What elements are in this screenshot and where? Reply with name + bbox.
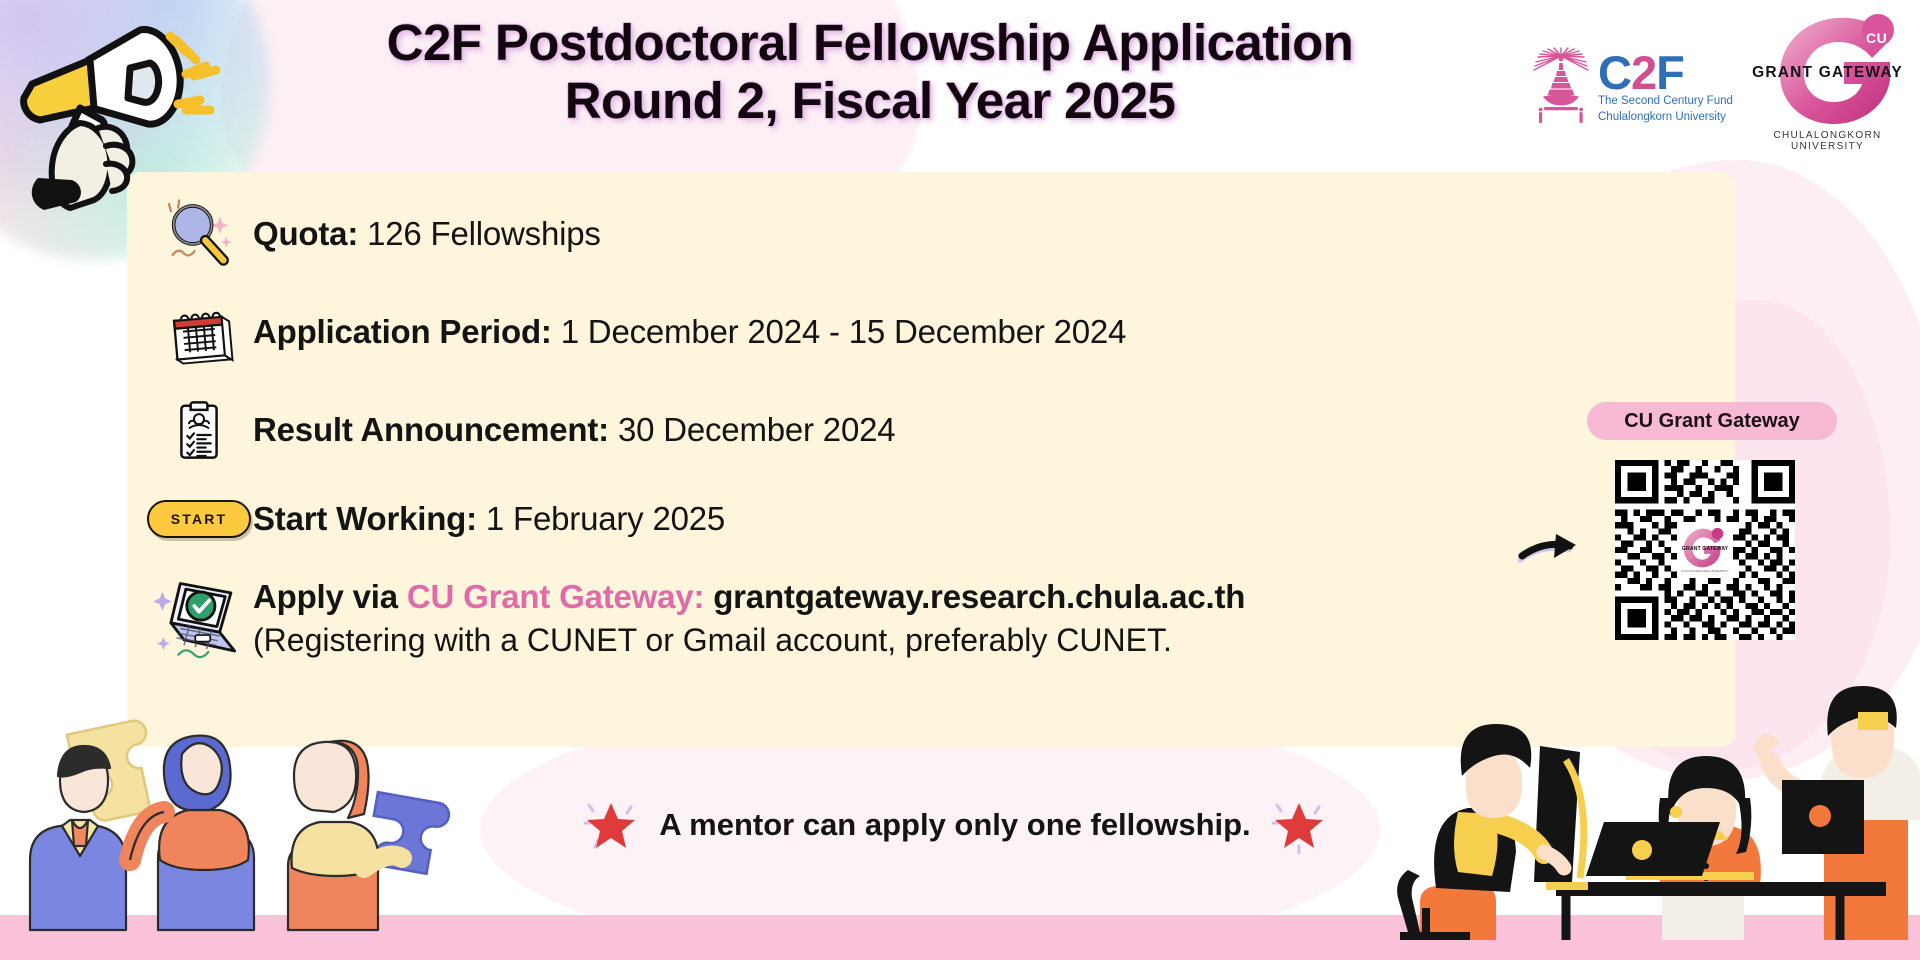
title-line-2: Round 2, Fiscal Year 2025 [230,72,1510,130]
row-apply-via-note: (Registering with a CUNET or Gmail accou… [253,622,1245,659]
row-apply-via-text: Apply via CU Grant Gateway: grantgateway… [253,566,1245,659]
row-result-announcement: Result Announcement: 30 December 2024 [145,390,895,470]
poster-title: C2F Postdoctoral Fellowship Application … [230,14,1510,129]
svg-text:GRANT GATEWAY: GRANT GATEWAY [1682,546,1729,552]
chulalongkorn-pagoda-emblem [1530,46,1592,130]
svg-text:CHULALONGKORN UNIVERSITY: CHULALONGKORN UNIVERSITY [1681,569,1728,573]
row-application-period-label: Application Period: [253,313,552,350]
grant-gateway-logo: CU GRANT GATEWAY CHULALONGKORN UNIVERSIT… [1740,14,1915,154]
row-apply-via-url[interactable]: grantgateway.research.chula.ac.th [713,578,1245,615]
c2f-letter-c: C [1598,46,1631,99]
row-quota-value: 126 Fellowships [367,215,601,252]
row-start-working-text: Start Working: 1 February 2025 [253,500,725,538]
row-quota-label: Quota: [253,215,358,252]
row-start-working-value: 1 February 2025 [486,500,725,537]
row-start-working-label: Start Working: [253,500,477,537]
clipboard-checklist-icon [145,394,253,466]
footer-note: A mentor can apply only one fellowship. [540,795,1370,855]
row-result-announcement-value: 30 December 2024 [618,411,895,448]
c2f-subtitle-line-2: Chulalongkorn University [1598,110,1726,125]
laptop-check-icon [145,566,253,676]
row-apply-via: Apply via CU Grant Gateway: grantgateway… [145,566,1245,676]
row-apply-via-label: Apply via [253,578,398,615]
row-apply-via-highlight: CU Grant Gateway: [407,578,704,615]
start-badge: START [147,500,251,538]
row-application-period-value: 1 December 2024 - 15 December 2024 [561,313,1127,350]
row-start-working: START Start Working: 1 February 2025 [145,488,725,550]
grant-gateway-cu-label: CU [1866,30,1887,46]
c2f-logo: C2F The Second Century Fund Chulalongkor… [1530,34,1730,142]
start-pill-icon: START [145,500,253,538]
c2f-letter-f: F [1656,46,1684,99]
title-line-1: C2F Postdoctoral Fellowship Application [230,14,1510,72]
row-result-announcement-text: Result Announcement: 30 December 2024 [253,411,895,449]
star-icon [1269,795,1329,855]
poster-canvas: C2F Postdoctoral Fellowship Application … [0,0,1920,960]
c2f-letter-2: 2 [1631,46,1656,99]
calendar-icon [145,294,253,370]
start-badge-label: START [171,511,228,527]
qr-badge-label: CU Grant Gateway [1624,410,1800,433]
qr-center-logo: GRANT GATEWAY CHULALONGKORN UNIVERSITY [1677,522,1733,578]
grant-gateway-wordmark: GRANT GATEWAY [1740,64,1915,82]
qr-badge: CU Grant Gateway [1587,402,1837,440]
people-working-at-computers-illustration [1380,620,1920,940]
row-apply-via-line-1: Apply via CU Grant Gateway: grantgateway… [253,578,1245,616]
row-application-period: Application Period: 1 December 2024 - 15… [145,292,1126,372]
star-icon [581,795,641,855]
footer-note-text: A mentor can apply only one fellowship. [659,807,1250,843]
c2f-subtitle-line-1: The Second Century Fund [1598,94,1733,109]
row-result-announcement-label: Result Announcement: [253,411,609,448]
people-with-puzzle-pieces-illustration [0,700,530,940]
grant-gateway-university-label: CHULALONGKORN UNIVERSITY [1740,130,1915,152]
curved-arrow-icon [1518,518,1588,574]
c2f-wordmark: C2F [1598,51,1684,94]
row-quota-text: Quota: 126 Fellowships [253,215,601,253]
row-application-period-text: Application Period: 1 December 2024 - 15… [253,313,1126,351]
megaphone-announcement-icon [10,8,250,238]
